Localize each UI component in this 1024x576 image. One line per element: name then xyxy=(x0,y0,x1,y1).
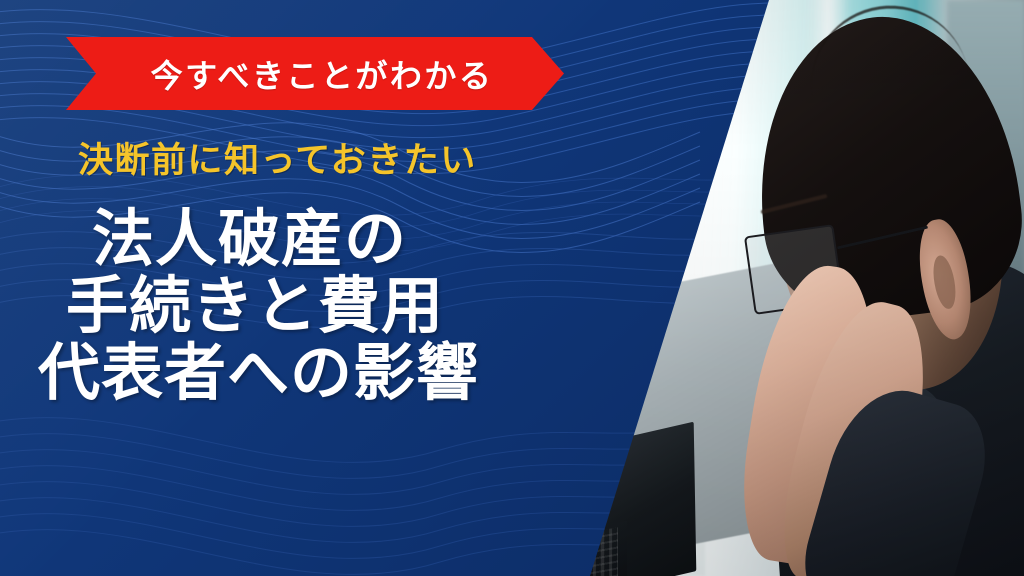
headline-block: 法人破産の 手続きと費用 代表者への影響 xyxy=(0,206,600,407)
headline-line-3: 代表者への影響 xyxy=(38,340,600,407)
headline-line-1: 法人破産の xyxy=(92,206,600,273)
ribbon-label: 今すべきことがわかる xyxy=(137,51,494,97)
subtitle-text: 決断前に知っておきたい xyxy=(78,132,477,183)
thumbnail-canvas: 今すべきことがわかる 決断前に知っておきたい 法人破産の 手続きと費用 代表者へ… xyxy=(0,0,1024,576)
headline-line-2: 手続きと費用 xyxy=(66,273,600,340)
ribbon-banner: 今すべきことがわかる xyxy=(66,37,564,110)
